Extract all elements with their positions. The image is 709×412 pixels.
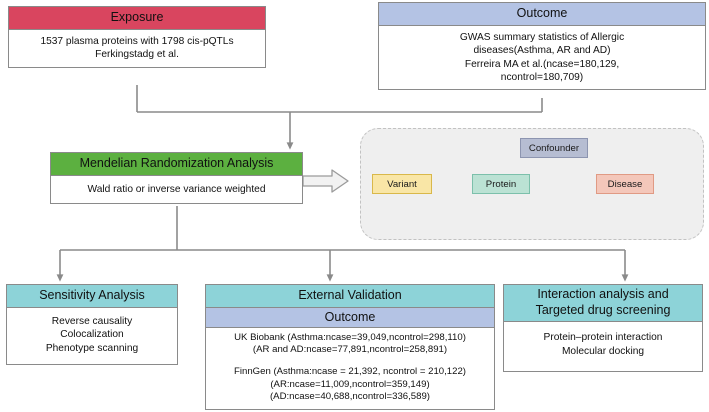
external-validation-box: External Validation Outcome UK Biobank (…	[205, 284, 495, 410]
interaction-analysis-box: Interaction analysis and Targeted drug s…	[503, 284, 703, 372]
mr-header: Mendelian Randomization Analysis	[51, 153, 302, 176]
mr-line-1: Wald ratio or inverse variance weighted	[55, 183, 298, 196]
external-line-2: (AR and AD:ncase=77,891,ncontrol=258,891…	[208, 344, 492, 357]
external-line-6: (AD:ncase=40,688,ncontrol=336,589)	[208, 391, 492, 404]
external-validation-subheader: Outcome	[206, 308, 494, 328]
outcome-body: GWAS summary statistics of Allergic dise…	[379, 26, 705, 90]
interaction-line-2: Molecular docking	[508, 345, 698, 358]
outcome-header: Outcome	[379, 3, 705, 26]
exposure-line-1: 1537 plasma proteins with 1798 cis-pQTLs	[13, 35, 261, 48]
outcome-line-1: GWAS summary statistics of Allergic	[383, 31, 701, 44]
external-validation-body: UK Biobank (Asthma:ncase=39,049,ncontrol…	[206, 328, 494, 409]
external-line-4: FinnGen (Asthma:ncase = 21,392, ncontrol…	[208, 366, 492, 379]
sensitivity-body: Reverse causality Colocalization Phenoty…	[7, 308, 177, 364]
interaction-header-line-2: Targeted drug screening	[506, 303, 700, 319]
exposure-body: 1537 plasma proteins with 1798 cis-pQTLs…	[9, 30, 265, 67]
outcome-line-2: diseases(Asthma, AR and AD)	[383, 44, 701, 57]
exposure-line-2: Ferkingstadg et al.	[13, 48, 261, 61]
node-disease: Disease	[596, 174, 654, 194]
interaction-header-line-1: Interaction analysis and	[506, 287, 700, 303]
exposure-box: Exposure 1537 plasma proteins with 1798 …	[8, 6, 266, 68]
external-validation-header: External Validation	[206, 285, 494, 308]
external-line-spacer	[208, 357, 492, 366]
node-variant: Variant	[372, 174, 432, 194]
sensitivity-analysis-box: Sensitivity Analysis Reverse causality C…	[6, 284, 178, 365]
interaction-line-1: Protein–protein interaction	[508, 331, 698, 344]
figure-canvas: Variant Protein Disease Confounder Expos…	[0, 0, 709, 412]
sensitivity-line-3: Phenotype scanning	[11, 342, 173, 355]
exposure-header: Exposure	[9, 7, 265, 30]
sensitivity-line-1: Reverse causality	[11, 315, 173, 328]
outcome-box: Outcome GWAS summary statistics of Aller…	[378, 2, 706, 90]
block-arrow-icon	[303, 170, 348, 192]
outcome-line-4: ncontrol=180,709)	[383, 71, 701, 84]
sensitivity-header: Sensitivity Analysis	[7, 285, 177, 308]
node-confounder: Confounder	[520, 138, 588, 158]
node-protein: Protein	[472, 174, 530, 194]
interaction-header: Interaction analysis and Targeted drug s…	[504, 285, 702, 322]
sensitivity-line-2: Colocalization	[11, 328, 173, 341]
external-line-1: UK Biobank (Asthma:ncase=39,049,ncontrol…	[208, 332, 492, 345]
external-line-5: (AR:ncase=11,009,ncontrol=359,149)	[208, 379, 492, 392]
interaction-body: Protein–protein interaction Molecular do…	[504, 322, 702, 371]
mr-body: Wald ratio or inverse variance weighted	[51, 176, 302, 203]
outcome-line-3: Ferreira MA et al.(ncase=180,129,	[383, 58, 701, 71]
mendelian-randomization-box: Mendelian Randomization Analysis Wald ra…	[50, 152, 303, 204]
